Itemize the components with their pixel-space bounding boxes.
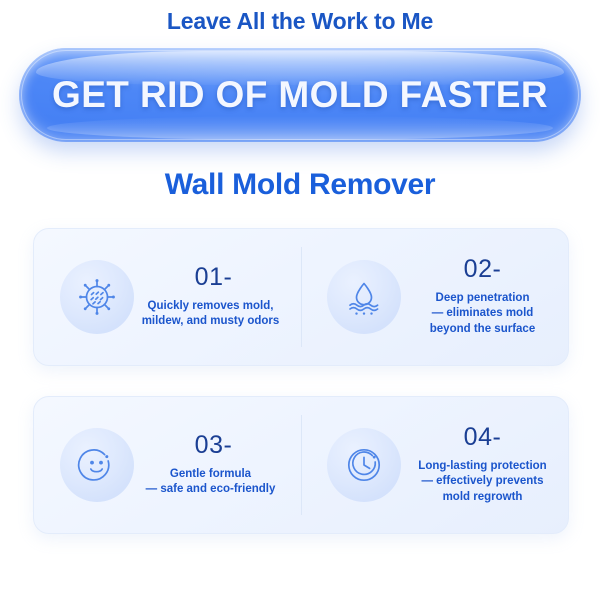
water-droplet-icon: [327, 260, 401, 334]
feature-cell-04: 04- Long-lasting protection — effectivel…: [301, 397, 568, 533]
banner-pill-label: GET RID OF MOLD FASTER: [19, 48, 581, 142]
banner-pill: GET RID OF MOLD FASTER: [19, 48, 581, 142]
feature-text-04: 04- Long-lasting protection — effectivel…: [401, 425, 568, 505]
feature-number-03: 03-: [140, 433, 287, 458]
feature-number-04: 04-: [407, 425, 558, 450]
feature-card-bottom: 03- Gentle formula — safe and eco-friend…: [33, 396, 569, 534]
smiley-face-icon: [60, 428, 134, 502]
feature-cell-02: 02- Deep penetration — eliminates mold b…: [301, 229, 568, 365]
product-title: Wall Mold Remover: [0, 168, 600, 202]
feature-description-01: Quickly removes mold, mildew, and musty …: [134, 299, 287, 329]
clock-icon: [327, 428, 401, 502]
feature-text-03: 03- Gentle formula — safe and eco-friend…: [134, 433, 301, 497]
feature-description-03: Gentle formula — safe and eco-friendly: [134, 467, 287, 497]
feature-card-top: 01- Quickly removes mold, mildew, and mu…: [33, 228, 569, 366]
feature-description-02: Deep penetration — eliminates mold beyon…: [407, 291, 558, 337]
germ-icon: [60, 260, 134, 334]
product-feature-page: Leave All the Work to Me GET RID OF MOLD…: [0, 0, 600, 600]
feature-cell-03: 03- Gentle formula — safe and eco-friend…: [34, 397, 301, 533]
feature-number-01: 01-: [140, 265, 287, 290]
feature-description-04: Long-lasting protection — effectively pr…: [407, 459, 558, 505]
feature-number-02: 02-: [407, 257, 558, 282]
feature-text-01: 01- Quickly removes mold, mildew, and mu…: [134, 265, 301, 329]
headline-eyebrow: Leave All the Work to Me: [0, 8, 600, 35]
feature-cell-01: 01- Quickly removes mold, mildew, and mu…: [34, 229, 301, 365]
feature-text-02: 02- Deep penetration — eliminates mold b…: [401, 257, 568, 337]
